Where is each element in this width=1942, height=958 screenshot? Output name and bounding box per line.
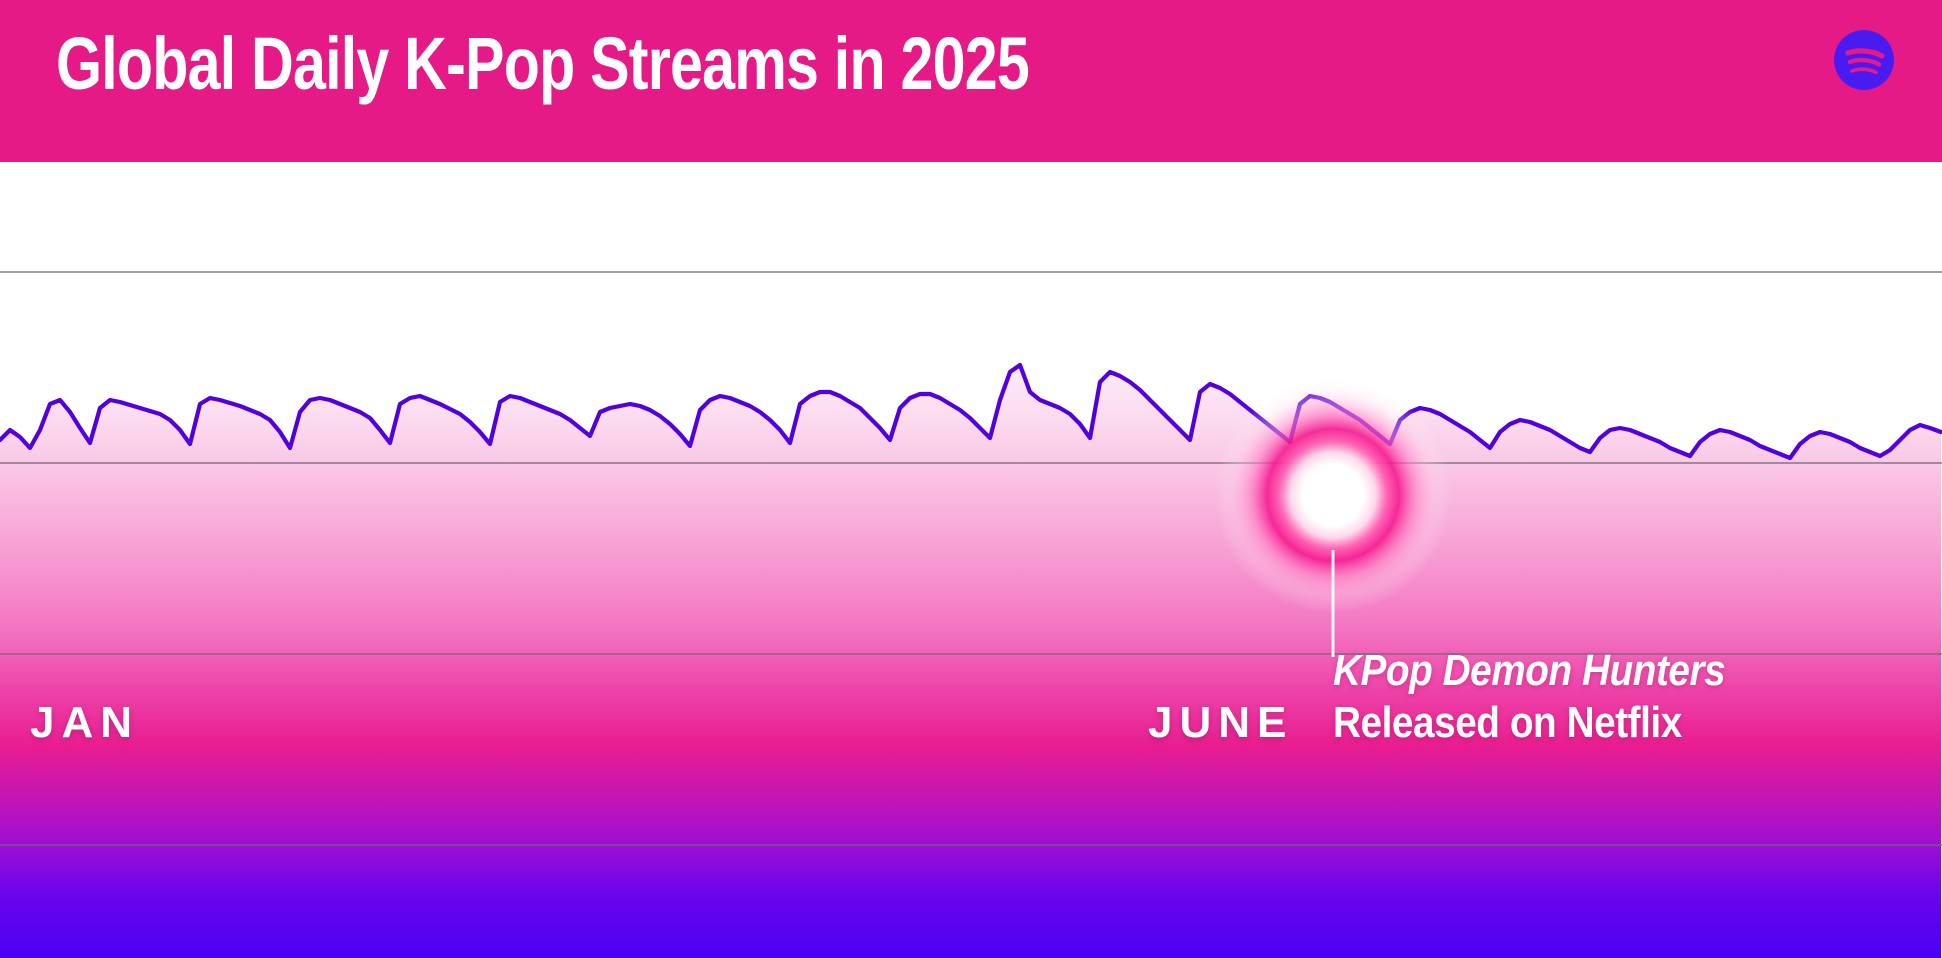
- x-axis-label-june: JUNE: [1148, 698, 1293, 748]
- page-title: Global Daily K-Pop Streams in 2025: [56, 25, 1029, 103]
- infographic-root: Global Daily K-Pop Streams in 2025: [0, 0, 1942, 958]
- header-bar: Global Daily K-Pop Streams in 2025: [0, 0, 1942, 162]
- stream-area-chart: [0, 162, 1942, 958]
- chart-plot-area: [0, 162, 1942, 958]
- x-axis-label-jan: JAN: [30, 698, 139, 748]
- spotify-logo-icon[interactable]: [1832, 28, 1896, 92]
